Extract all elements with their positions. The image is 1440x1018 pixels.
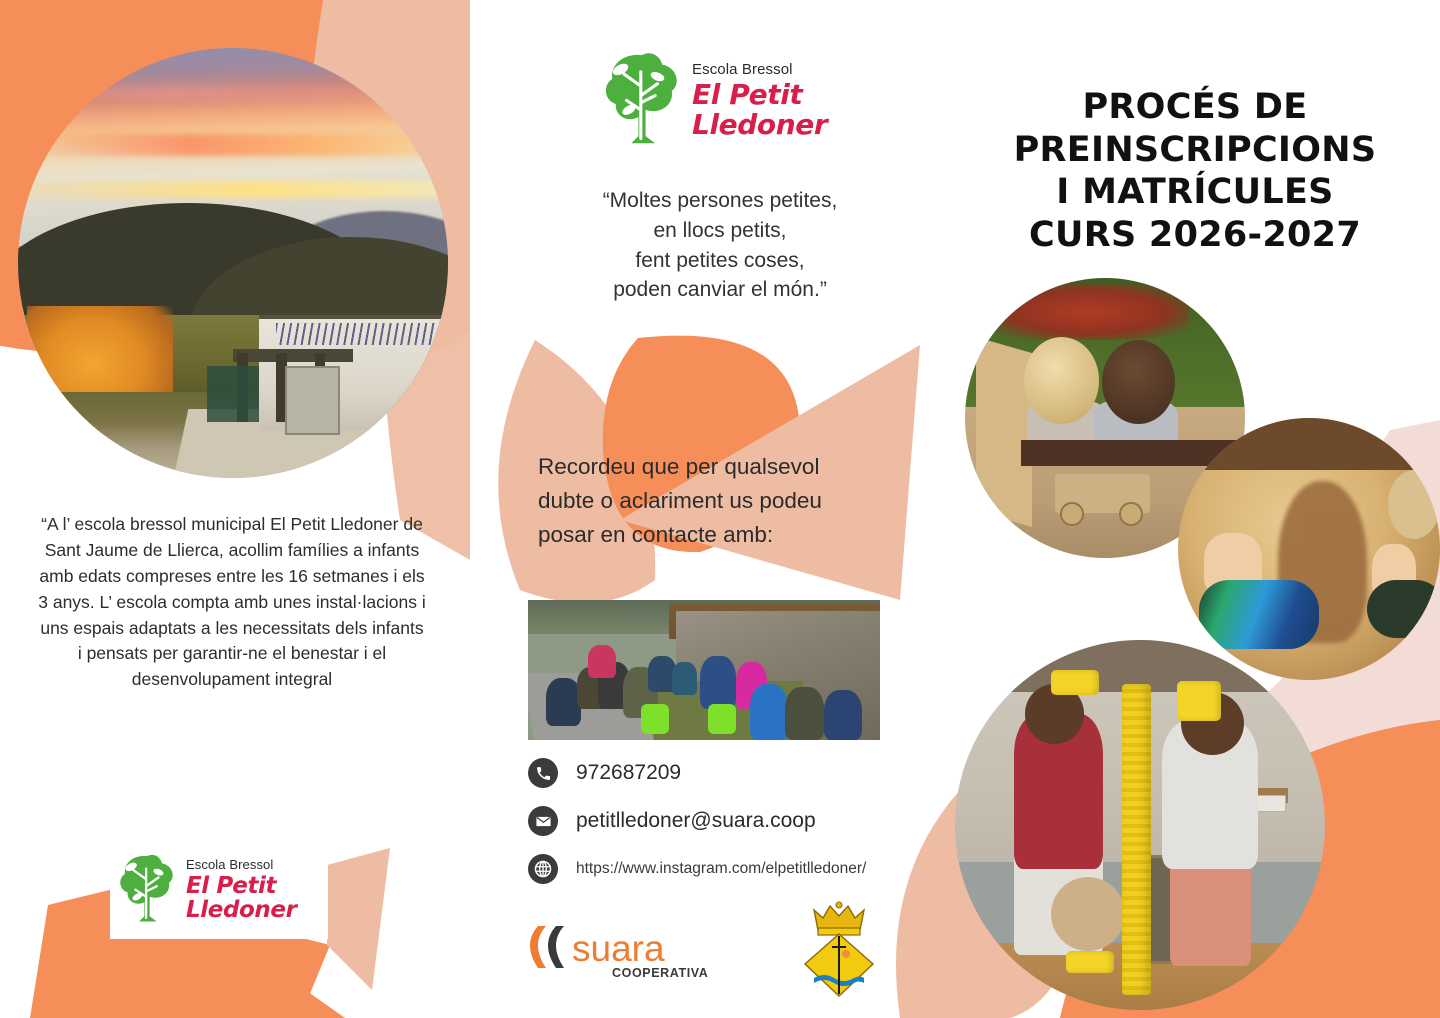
photo-building-mural <box>276 323 439 345</box>
email-icon <box>528 806 558 836</box>
logo-line-2: Lledoner <box>186 898 297 922</box>
quote-line-4: poden canviar el món.” <box>540 275 900 305</box>
photo-toy-wheel <box>1060 502 1084 526</box>
phone-number: 972687209 <box>576 761 681 785</box>
recordeu-block: Recordeu que per qualsevol dubte o aclar… <box>538 450 904 553</box>
contact-row-website[interactable]: https://www.instagram.com/elpetitlledone… <box>528 854 928 884</box>
photo-child <box>750 684 789 740</box>
photo-child-trousers <box>641 704 669 735</box>
logo-line-1: El Petit <box>692 80 827 109</box>
photo-tower <box>955 640 1325 1010</box>
photo-yellow-tower <box>1122 684 1152 995</box>
school-logo: Escola Bressol El Petit Lledoner <box>600 48 827 153</box>
photo-child-hair <box>1388 470 1440 538</box>
recordeu-line-1: Recordeu que per qualsevol <box>538 450 904 484</box>
photo-dark-ceiling <box>1178 418 1440 470</box>
tree-icon <box>600 48 684 153</box>
photo-dark-sleeve <box>1367 580 1440 638</box>
photo-child <box>672 662 697 696</box>
photo-yellow-tube <box>1051 670 1099 696</box>
photo-striped-sleeve <box>1199 580 1320 648</box>
logo-line-2: Lledoner <box>692 110 827 139</box>
intro-paragraph: “A l’ escola bressol municipal El Petit … <box>36 512 428 693</box>
tree-icon <box>116 851 178 930</box>
photo-wooden-frame <box>976 337 1032 527</box>
title-line-4: CURS 2026-2027 <box>980 214 1410 257</box>
svg-text:COOPERATIVA: COOPERATIVA <box>612 966 708 980</box>
photo-cloud-streak <box>18 181 448 198</box>
sant-jaume-de-llierca-coat-of-arms <box>798 900 880 1000</box>
logo-box-bottom: Escola Bressol El Petit Lledoner <box>110 841 328 939</box>
quote-line-3: fent petites coses, <box>540 246 900 276</box>
globe-icon <box>528 854 558 884</box>
quote-line-2: en llocs petits, <box>540 216 900 246</box>
school-logo-text: Escola Bressol El Petit Lledoner <box>186 858 297 922</box>
recordeu-line-3: posar en contacte amb: <box>538 518 904 552</box>
recordeu-line-2: dubte o aclariment us podeu <box>538 484 904 518</box>
logo-header: Escola Bressol El Petit Lledoner <box>600 48 827 153</box>
photo-fence <box>207 366 259 422</box>
landscape-photo <box>18 48 448 478</box>
phone-icon <box>528 758 558 788</box>
photo-red-foliage <box>987 284 1189 340</box>
contact-row-phone[interactable]: 972687209 <box>528 758 928 788</box>
logo-subtitle: Escola Bressol <box>186 858 297 871</box>
photo-child-bending <box>1051 877 1125 951</box>
contact-row-email[interactable]: petitlledoner@suara.coop <box>528 806 928 836</box>
logo-line-1: El Petit <box>186 874 297 898</box>
photo-child <box>700 656 735 709</box>
photo-child-head-blond <box>1024 337 1100 424</box>
crown-icon <box>814 902 864 935</box>
website-url: https://www.instagram.com/elpetitlledone… <box>576 860 866 878</box>
quote-line-1: “Moltes persones petites, <box>540 186 900 216</box>
quote-block: “Moltes persones petites, en llocs petit… <box>540 186 900 305</box>
school-logo: Escola Bressol El Petit Lledoner <box>116 851 297 930</box>
logo-subtitle: Escola Bressol <box>692 62 827 77</box>
email-address: petitlledoner@suara.coop <box>576 809 816 833</box>
photo-cloud-streak <box>18 134 448 156</box>
photo-yellow-tube <box>1066 951 1114 973</box>
title-line-1: PROCÉS DE <box>980 86 1410 129</box>
photo-child <box>588 645 616 679</box>
photo-child <box>824 690 863 740</box>
contact-list: 972687209 petitlledoner@suara.coop <box>528 758 928 902</box>
photo-building-door <box>285 366 341 435</box>
photo-child <box>546 678 581 726</box>
suara-logo: suara COOPERATIVA <box>520 920 710 982</box>
photo-yellow-tube <box>1177 681 1221 722</box>
school-logo-text: Escola Bressol El Petit Lledoner <box>692 62 827 139</box>
parenthesis-arcs-icon <box>530 926 546 968</box>
title-line-3: I MATRÍCULES <box>980 171 1410 214</box>
brochure-page: “A l’ escola bressol municipal El Petit … <box>0 0 1440 1018</box>
photo-toy-wheel <box>1119 502 1143 526</box>
photo-child <box>785 687 824 740</box>
page-title: PROCÉS DE PREINSCRIPCIONS I MATRÍCULES C… <box>980 86 1410 257</box>
photo-child-trousers <box>708 704 736 735</box>
photo-child-head-brown <box>1102 340 1175 424</box>
photo-building-canopy <box>233 349 353 362</box>
title-line-2: PREINSCRIPCIONS <box>980 129 1410 172</box>
svg-text:suara: suara <box>572 928 665 969</box>
photo-cloud-streak <box>18 87 448 100</box>
children-walking-photo <box>528 600 880 740</box>
